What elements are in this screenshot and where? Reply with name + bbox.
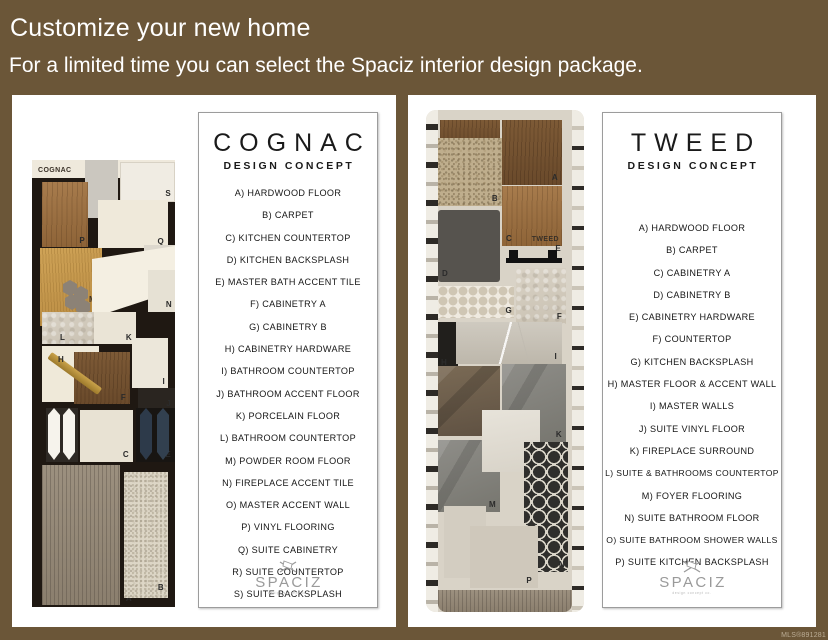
legend-item: K) FIREPLACE SURROUND	[603, 446, 781, 456]
cognac-legend-list: A) HARDWOOD FLOOR B) CARPET C) KITCHEN C…	[199, 188, 377, 599]
legend-item: B) CARPET	[199, 210, 377, 220]
swatch-B: B	[124, 472, 168, 598]
swatch-board-edge-right	[572, 110, 584, 612]
swatch-I: I	[132, 338, 168, 388]
swatch-label-D: D	[442, 270, 448, 278]
swatch-I: I	[456, 322, 562, 364]
legend-item: M) FOYER FLOORING	[603, 491, 781, 501]
swatch-A: A	[42, 465, 120, 605]
screenshot-root: Customize your new home For a limited ti…	[0, 0, 828, 640]
page-title: Customize your new home	[10, 14, 311, 43]
cognac-subtitle: DESIGN CONCEPT	[199, 160, 377, 172]
tweed-spaciz-logo: SPACIZ design concept co.	[603, 560, 781, 595]
legend-item: L) SUITE & BATHROOMS COUNTERTOP	[603, 468, 781, 478]
header-banner: Customize your new home For a limited ti…	[0, 0, 828, 95]
swatch-label-G: G	[505, 307, 512, 315]
tweed-subtitle: DESIGN CONCEPT	[603, 160, 781, 172]
swatch-A: A	[502, 120, 562, 185]
legend-item: P) VINYL FLOORING	[199, 522, 377, 532]
legend-item: D) CABINETRY B	[603, 290, 781, 300]
legend-item: A) HARDWOOD FLOOR	[603, 223, 781, 233]
legend-item: H) CABINETRY HARDWARE	[199, 344, 377, 354]
picket-tile-dark-icon	[138, 408, 172, 462]
swatch-S: S	[120, 162, 175, 202]
swatch-Q: Q	[98, 200, 168, 248]
swatch-label-N: N	[559, 561, 565, 569]
spaciz-wordmark: SPACIZ	[603, 575, 781, 590]
tweed-panel: A B C TWEED D E	[408, 95, 816, 627]
spaciz-mark-icon	[682, 560, 702, 574]
tweed-material-board: A B C TWEED D E	[426, 110, 584, 612]
swatch-label-C: C	[506, 235, 512, 243]
legend-item: G) CABINETRY B	[199, 322, 377, 332]
legend-item: E) CABINETRY HARDWARE	[603, 312, 781, 322]
cognac-concept-card: COGNAC DESIGN CONCEPT A) HARDWOOD FLOOR …	[198, 112, 378, 608]
legend-item: N) SUITE BATHROOM FLOOR	[603, 513, 781, 523]
legend-item: C) KITCHEN COUNTERTOP	[199, 233, 377, 243]
legend-item: L) BATHROOM COUNTERTOP	[199, 433, 377, 443]
spaciz-wordmark: SPACIZ	[199, 575, 377, 590]
swatch-L: L	[42, 312, 94, 344]
swatch-C: C TWEED	[502, 186, 562, 246]
legend-item: I) MASTER WALLS	[603, 401, 781, 411]
tweed-concept-card: TWEED DESIGN CONCEPT A) HARDWOOD FLOOR B…	[602, 112, 782, 608]
legend-item: N) FIREPLACE ACCENT TILE	[199, 478, 377, 488]
swatch-board-bottom-band	[438, 590, 572, 612]
legend-item: D) KITCHEN BACKSPLASH	[199, 255, 377, 265]
swatch-label-F: F	[557, 313, 562, 321]
swatch-C: C	[80, 410, 133, 462]
picket-tile-icon	[47, 408, 77, 462]
swatch-label-K: K	[556, 431, 562, 439]
mls-watermark: MLS®891281	[781, 632, 826, 639]
swatch-D: D	[438, 210, 500, 282]
cognac-panel: COGNAC S R P Q O M	[12, 95, 396, 627]
swatch-H: H	[438, 322, 458, 370]
tweed-board-stamp: TWEED	[532, 236, 559, 243]
legend-item: K) PORCELAIN FLOOR	[199, 411, 377, 421]
swatch-label-H: H	[58, 356, 64, 364]
legend-item: Q) SUITE CABINETRY	[199, 545, 377, 555]
swatch-P: P	[470, 526, 538, 588]
swatch-label-I: I	[554, 353, 557, 361]
swatch-N: N	[148, 270, 175, 312]
legend-item: O) MASTER ACCENT WALL	[199, 500, 377, 510]
legend-item: I) BATHROOM COUNTERTOP	[199, 366, 377, 376]
cognac-title: COGNAC	[199, 129, 377, 158]
spaciz-tagline: design concept co.	[603, 591, 781, 595]
legend-item: C) CABINETRY A	[603, 268, 781, 278]
swatch-B: B	[438, 138, 502, 206]
swatch-label-F: F	[121, 394, 126, 402]
legend-item: E) MASTER BATH ACCENT TILE	[199, 277, 377, 287]
legend-item: B) CARPET	[603, 245, 781, 255]
tweed-legend-list: A) HARDWOOD FLOOR B) CARPET C) CABINETRY…	[603, 223, 781, 567]
swatch-J: J	[138, 388, 175, 410]
spaciz-tagline: design concept co.	[199, 591, 377, 595]
swatch-label-H-holder: H	[58, 356, 72, 366]
swatch-label-J: J	[166, 400, 171, 408]
swatch-label-P: P	[79, 237, 85, 245]
legend-item: A) HARDWOOD FLOOR	[199, 188, 377, 198]
legend-item: F) CABINETRY A	[199, 299, 377, 309]
swatch-label-L: L	[60, 334, 65, 342]
legend-item: J) BATHROOM ACCENT FLOOR	[199, 389, 377, 399]
page-subtitle: For a limited time you can select the Sp…	[9, 54, 643, 78]
swatch-label-I: I	[162, 378, 165, 386]
swatch-label-N: N	[166, 301, 172, 309]
swatch-K: K	[94, 312, 136, 344]
swatch-label-P: P	[526, 577, 532, 585]
legend-item: H) MASTER FLOOR & ACCENT WALL	[603, 379, 781, 389]
spaciz-mark-icon	[278, 560, 298, 574]
swatch-label-B: B	[492, 195, 498, 203]
cognac-material-board: COGNAC S R P Q O M	[32, 160, 175, 607]
swatch-label-C: C	[123, 451, 129, 459]
legend-item: J) SUITE VINYL FLOOR	[603, 424, 781, 434]
swatch-label-A: A	[552, 174, 558, 182]
swatch-G: G	[438, 286, 514, 318]
legend-item: G) KITCHEN BACKSPLASH	[603, 357, 781, 367]
legend-item: M) POWDER ROOM FLOOR	[199, 456, 377, 466]
cognac-board-stamp: COGNAC	[38, 167, 72, 174]
legend-item: O) SUITE BATHROOM SHOWER WALLS	[603, 535, 781, 545]
cabinet-pull-icon	[506, 248, 562, 264]
swatch-label-B: B	[158, 584, 164, 592]
swatch-label-M: M	[489, 501, 496, 509]
legend-item: F) COUNTERTOP	[603, 334, 781, 344]
cognac-spaciz-logo: SPACIZ design concept co.	[199, 560, 377, 595]
tweed-title: TWEED	[603, 129, 781, 158]
swatch-F: F	[516, 268, 566, 324]
swatch-P: P	[42, 182, 88, 247]
swatch-board-edge	[426, 110, 438, 612]
swatch-label-S: S	[165, 190, 171, 198]
